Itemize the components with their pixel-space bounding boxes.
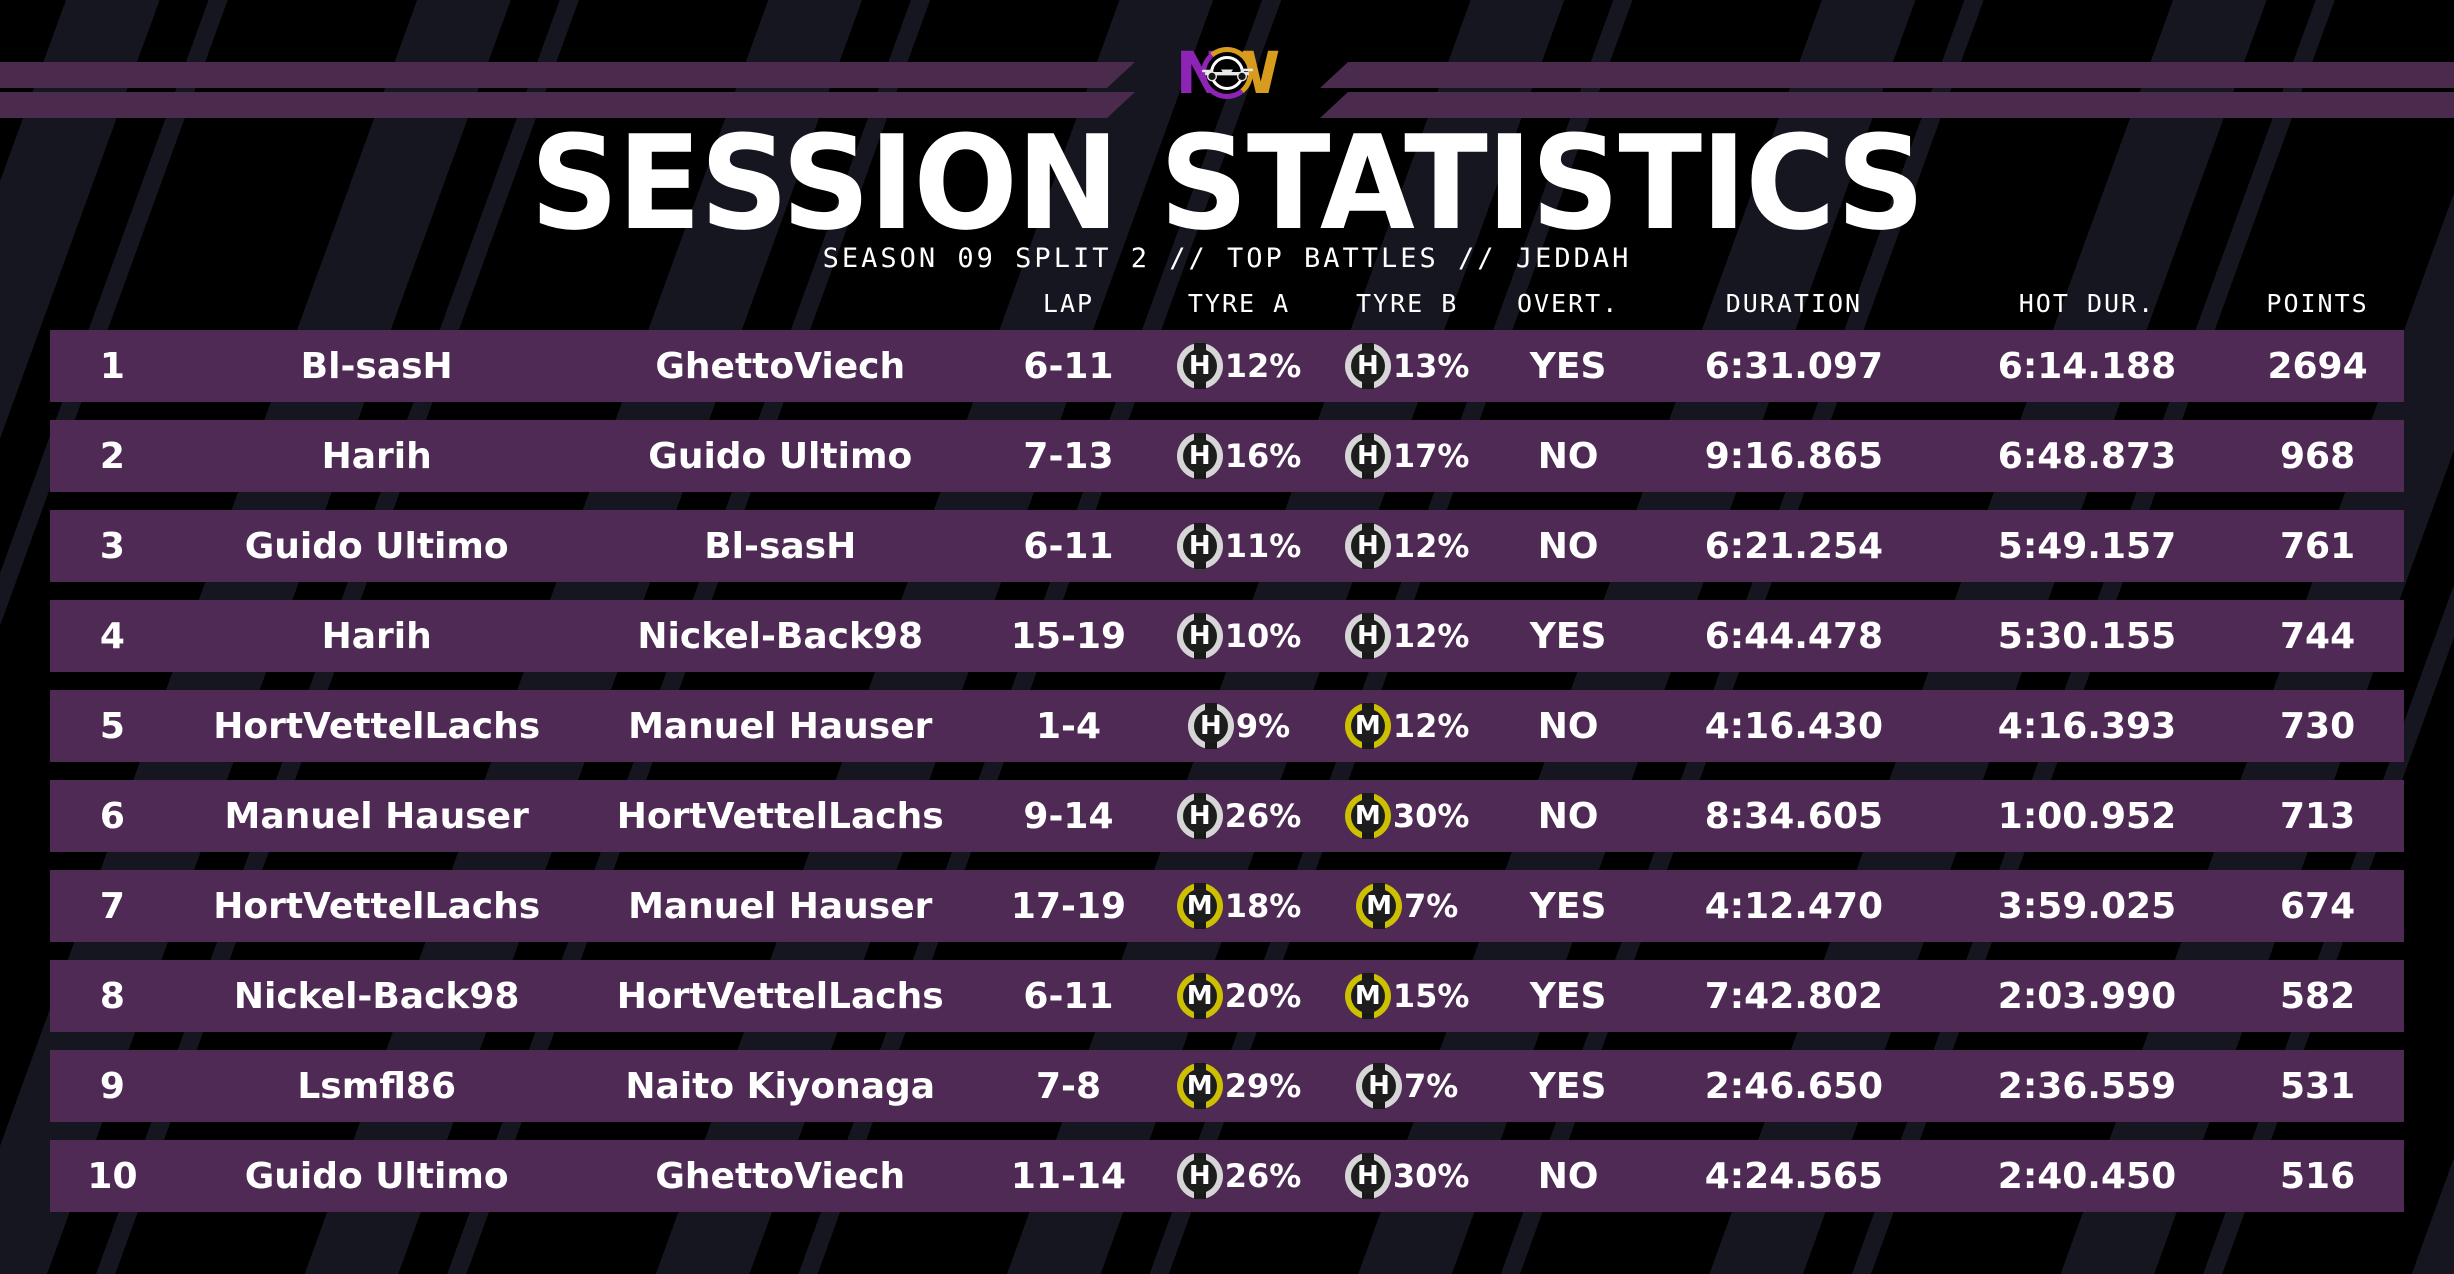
tyre-a-percent: 9%: [1236, 707, 1290, 745]
tyre-compound-letter: H: [1357, 1163, 1379, 1189]
cell-hot-duration: 1:00.952: [1943, 796, 2231, 837]
tyre-b-percent: 30%: [1393, 1157, 1470, 1195]
cell-position: 9: [50, 1066, 175, 1107]
tyre-compound-letter: M: [1355, 713, 1381, 739]
cell-points: 674: [2231, 886, 2404, 927]
tyre-hard-icon: H: [1188, 703, 1234, 749]
cell-driver-a: HortVettelLachs: [175, 886, 579, 927]
tyre-compound-letter: H: [1189, 353, 1211, 379]
cell-position: 10: [50, 1156, 175, 1197]
cell-driver-b: Naito Kiyonaga: [578, 1066, 982, 1107]
table-row[interactable]: 6 Manuel Hauser HortVettelLachs 9-14 H 2…: [50, 780, 2404, 852]
tyre-medium-icon: M: [1177, 1063, 1223, 1109]
cell-overtake: NO: [1491, 526, 1645, 567]
tyre-hard-icon: H: [1345, 343, 1391, 389]
tyre-a-percent: 16%: [1225, 437, 1302, 475]
table-row[interactable]: 3 Guido Ultimo Bl-sasH 6-11 H 11%: [50, 510, 2404, 582]
logo-ring-icon: [1201, 47, 1253, 99]
cell-tyre-a: H 12%: [1155, 343, 1323, 389]
tyre-b-group: H 13%: [1345, 343, 1470, 389]
cell-lap: 7-8: [982, 1066, 1155, 1107]
table-row[interactable]: 8 Nickel-Back98 HortVettelLachs 6-11 M 2…: [50, 960, 2404, 1032]
tyre-hard-icon: H: [1345, 613, 1391, 659]
cell-tyre-a: M 20%: [1155, 973, 1323, 1019]
tyre-b-group: H 30%: [1345, 1153, 1470, 1199]
tyre-b-percent: 12%: [1393, 527, 1470, 565]
cell-points: 531: [2231, 1066, 2404, 1107]
cell-position: 7: [50, 886, 175, 927]
cell-points: 968: [2231, 436, 2404, 477]
cell-driver-a: Harih: [175, 616, 579, 657]
tyre-a-group: H 10%: [1177, 613, 1302, 659]
cell-overtake: YES: [1491, 1066, 1645, 1107]
tyre-a-group: H 12%: [1177, 343, 1302, 389]
cell-duration: 9:16.865: [1645, 436, 1943, 477]
cell-points: 730: [2231, 706, 2404, 747]
tyre-hard-icon: H: [1345, 1153, 1391, 1199]
tyre-compound-letter: H: [1357, 533, 1379, 559]
tyre-b-group: M 12%: [1345, 703, 1470, 749]
cell-duration: 4:12.470: [1645, 886, 1943, 927]
cell-position: 4: [50, 616, 175, 657]
session-statistics-table: LAP TYRE A TYRE B OVERT. DURATION HOT DU…: [50, 282, 2404, 1230]
cell-hot-duration: 2:03.990: [1943, 976, 2231, 1017]
tyre-compound-letter: H: [1357, 443, 1379, 469]
cell-overtake: YES: [1491, 346, 1645, 387]
tyre-b-percent: 7%: [1404, 1067, 1458, 1105]
cell-overtake: YES: [1491, 886, 1645, 927]
tyre-b-group: M 15%: [1345, 973, 1470, 1019]
cell-hot-duration: 4:16.393: [1943, 706, 2231, 747]
tyre-compound-letter: H: [1189, 443, 1211, 469]
cell-tyre-a: H 26%: [1155, 1153, 1323, 1199]
now-logo: N W: [1152, 42, 1302, 104]
header-lap: LAP: [982, 289, 1155, 318]
cell-tyre-b: M 12%: [1323, 703, 1491, 749]
cell-driver-b: HortVettelLachs: [578, 976, 982, 1017]
tyre-compound-letter: M: [1187, 1073, 1213, 1099]
tyre-medium-icon: M: [1345, 793, 1391, 839]
table-row[interactable]: 10 Guido Ultimo GhettoViech 11-14 H 26%: [50, 1140, 2404, 1212]
f1-car-icon: [1199, 64, 1255, 82]
cell-driver-a: Bl-sasH: [175, 346, 579, 387]
cell-lap: 6-11: [982, 976, 1155, 1017]
cell-position: 1: [50, 346, 175, 387]
cell-overtake: YES: [1491, 616, 1645, 657]
cell-hot-duration: 6:14.188: [1943, 346, 2231, 387]
tyre-a-group: M 29%: [1177, 1063, 1302, 1109]
tyre-b-percent: 17%: [1393, 437, 1470, 475]
cell-tyre-a: H 16%: [1155, 433, 1323, 479]
cell-driver-a: Lsmfl86: [175, 1066, 579, 1107]
tyre-a-group: H 9%: [1188, 703, 1290, 749]
tyre-compound-letter: M: [1366, 893, 1392, 919]
tyre-compound-letter: H: [1368, 1073, 1390, 1099]
tyre-hard-icon: H: [1177, 1153, 1223, 1199]
table-row[interactable]: 5 HortVettelLachs Manuel Hauser 1-4 H 9%: [50, 690, 2404, 762]
cell-points: 516: [2231, 1156, 2404, 1197]
header-tyre-a: TYRE A: [1155, 289, 1323, 318]
cell-lap: 7-13: [982, 436, 1155, 477]
cell-tyre-a: H 9%: [1155, 703, 1323, 749]
tyre-a-group: H 16%: [1177, 433, 1302, 479]
cell-hot-duration: 2:36.559: [1943, 1066, 2231, 1107]
tyre-compound-letter: M: [1187, 893, 1213, 919]
cell-position: 8: [50, 976, 175, 1017]
cell-driver-b: Manuel Hauser: [578, 886, 982, 927]
tyre-hard-icon: H: [1345, 523, 1391, 569]
tyre-b-group: M 7%: [1356, 883, 1458, 929]
cell-driver-a: HortVettelLachs: [175, 706, 579, 747]
tyre-compound-letter: M: [1187, 983, 1213, 1009]
tyre-compound-letter: H: [1189, 1163, 1211, 1189]
tyre-hard-icon: H: [1345, 433, 1391, 479]
tyre-compound-letter: M: [1355, 803, 1381, 829]
cell-lap: 6-11: [982, 526, 1155, 567]
tyre-a-percent: 26%: [1225, 1157, 1302, 1195]
cell-points: 713: [2231, 796, 2404, 837]
tyre-b-group: H 12%: [1345, 613, 1470, 659]
cell-tyre-b: H 17%: [1323, 433, 1491, 479]
cell-tyre-a: H 11%: [1155, 523, 1323, 569]
cell-points: 2694: [2231, 346, 2404, 387]
tyre-medium-icon: M: [1177, 883, 1223, 929]
cell-driver-a: Guido Ultimo: [175, 1156, 579, 1197]
header-hot-dur: HOT DUR.: [1943, 289, 2231, 318]
cell-lap: 11-14: [982, 1156, 1155, 1197]
tyre-compound-letter: H: [1189, 803, 1211, 829]
header-duration: DURATION: [1645, 289, 1943, 318]
cell-lap: 17-19: [982, 886, 1155, 927]
table-row[interactable]: 9 Lsmfl86 Naito Kiyonaga 7-8 M 29%: [50, 1050, 2404, 1122]
cell-duration: 8:34.605: [1645, 796, 1943, 837]
table-header-row: LAP TYRE A TYRE B OVERT. DURATION HOT DU…: [50, 282, 2404, 324]
tyre-a-group: H 26%: [1177, 1153, 1302, 1199]
page-subtitle: SEASON 09 SPLIT 2 // TOP BATTLES // JEDD…: [0, 243, 2454, 274]
cell-points: 761: [2231, 526, 2404, 567]
tyre-a-group: M 20%: [1177, 973, 1302, 1019]
tyre-hard-icon: H: [1356, 1063, 1402, 1109]
tyre-medium-icon: M: [1356, 883, 1402, 929]
header-tyre-b: TYRE B: [1323, 289, 1491, 318]
tyre-b-group: H 12%: [1345, 523, 1470, 569]
cell-tyre-b: H 13%: [1323, 343, 1491, 389]
cell-duration: 6:44.478: [1645, 616, 1943, 657]
cell-tyre-b: H 7%: [1323, 1063, 1491, 1109]
tyre-medium-icon: M: [1345, 703, 1391, 749]
cell-driver-b: GhettoViech: [578, 1156, 982, 1197]
tyre-hard-icon: H: [1177, 343, 1223, 389]
cell-overtake: NO: [1491, 796, 1645, 837]
tyre-b-percent: 12%: [1393, 707, 1470, 745]
tyre-compound-letter: H: [1189, 533, 1211, 559]
banner-bar-top-left: [0, 62, 1135, 88]
cell-hot-duration: 2:40.450: [1943, 1156, 2231, 1197]
cell-position: 5: [50, 706, 175, 747]
tyre-hard-icon: H: [1177, 613, 1223, 659]
tyre-hard-icon: H: [1177, 523, 1223, 569]
table-row[interactable]: 1 Bl-sasH GhettoViech 6-11 H 12%: [50, 330, 2404, 402]
cell-tyre-a: H 10%: [1155, 613, 1323, 659]
table-body: 1 Bl-sasH GhettoViech 6-11 H 12%: [50, 330, 2404, 1212]
header-overtake: OVERT.: [1491, 289, 1645, 318]
tyre-medium-icon: M: [1177, 973, 1223, 1019]
cell-driver-b: Bl-sasH: [578, 526, 982, 567]
tyre-b-percent: 7%: [1404, 887, 1458, 925]
cell-tyre-b: M 7%: [1323, 883, 1491, 929]
cell-hot-duration: 5:30.155: [1943, 616, 2231, 657]
tyre-b-percent: 13%: [1393, 347, 1470, 385]
cell-tyre-a: H 26%: [1155, 793, 1323, 839]
tyre-hard-icon: H: [1177, 793, 1223, 839]
tyre-a-percent: 10%: [1225, 617, 1302, 655]
cell-driver-a: Guido Ultimo: [175, 526, 579, 567]
cell-driver-b: Nickel-Back98: [578, 616, 982, 657]
page-title: SESSION STATISTICS: [0, 118, 2454, 248]
tyre-a-percent: 11%: [1225, 527, 1302, 565]
cell-duration: 4:24.565: [1645, 1156, 1943, 1197]
cell-duration: 2:46.650: [1645, 1066, 1943, 1107]
cell-points: 744: [2231, 616, 2404, 657]
cell-overtake: NO: [1491, 1156, 1645, 1197]
tyre-a-group: M 18%: [1177, 883, 1302, 929]
tyre-medium-icon: M: [1345, 973, 1391, 1019]
tyre-b-percent: 15%: [1393, 977, 1470, 1015]
tyre-a-group: H 11%: [1177, 523, 1302, 569]
cell-lap: 9-14: [982, 796, 1155, 837]
cell-tyre-b: H 12%: [1323, 523, 1491, 569]
cell-tyre-b: H 30%: [1323, 1153, 1491, 1199]
cell-duration: 6:31.097: [1645, 346, 1943, 387]
cell-tyre-b: M 15%: [1323, 973, 1491, 1019]
cell-lap: 1-4: [982, 706, 1155, 747]
cell-duration: 7:42.802: [1645, 976, 1943, 1017]
tyre-a-percent: 20%: [1225, 977, 1302, 1015]
cell-overtake: YES: [1491, 976, 1645, 1017]
table-row[interactable]: 4 Harih Nickel-Back98 15-19 H 10%: [50, 600, 2404, 672]
cell-duration: 6:21.254: [1645, 526, 1943, 567]
banner-bar-top-right: [1320, 62, 2454, 88]
tyre-compound-letter: H: [1200, 713, 1222, 739]
cell-driver-a: Manuel Hauser: [175, 796, 579, 837]
cell-driver-b: Guido Ultimo: [578, 436, 982, 477]
cell-points: 582: [2231, 976, 2404, 1017]
cell-tyre-a: M 29%: [1155, 1063, 1323, 1109]
cell-hot-duration: 5:49.157: [1943, 526, 2231, 567]
tyre-compound-letter: H: [1357, 353, 1379, 379]
cell-hot-duration: 3:59.025: [1943, 886, 2231, 927]
tyre-compound-letter: H: [1357, 623, 1379, 649]
cell-hot-duration: 6:48.873: [1943, 436, 2231, 477]
cell-tyre-b: M 30%: [1323, 793, 1491, 839]
cell-position: 3: [50, 526, 175, 567]
cell-overtake: NO: [1491, 436, 1645, 477]
tyre-b-percent: 12%: [1393, 617, 1470, 655]
table-row[interactable]: 2 Harih Guido Ultimo 7-13 H 16%: [50, 420, 2404, 492]
cell-driver-b: Manuel Hauser: [578, 706, 982, 747]
tyre-b-percent: 30%: [1393, 797, 1470, 835]
tyre-b-group: H 17%: [1345, 433, 1470, 479]
cell-duration: 4:16.430: [1645, 706, 1943, 747]
cell-position: 6: [50, 796, 175, 837]
tyre-a-percent: 29%: [1225, 1067, 1302, 1105]
cell-position: 2: [50, 436, 175, 477]
cell-driver-a: Nickel-Back98: [175, 976, 579, 1017]
tyre-compound-letter: H: [1189, 623, 1211, 649]
cell-driver-a: Harih: [175, 436, 579, 477]
cell-tyre-a: M 18%: [1155, 883, 1323, 929]
cell-driver-b: HortVettelLachs: [578, 796, 982, 837]
cell-lap: 6-11: [982, 346, 1155, 387]
cell-driver-b: GhettoViech: [578, 346, 982, 387]
tyre-a-group: H 26%: [1177, 793, 1302, 839]
cell-lap: 15-19: [982, 616, 1155, 657]
tyre-a-percent: 26%: [1225, 797, 1302, 835]
tyre-b-group: H 7%: [1356, 1063, 1458, 1109]
header-points: POINTS: [2231, 289, 2404, 318]
tyre-hard-icon: H: [1177, 433, 1223, 479]
table-row[interactable]: 7 HortVettelLachs Manuel Hauser 17-19 M …: [50, 870, 2404, 942]
cell-overtake: NO: [1491, 706, 1645, 747]
tyre-a-percent: 12%: [1225, 347, 1302, 385]
cell-tyre-b: H 12%: [1323, 613, 1491, 659]
tyre-b-group: M 30%: [1345, 793, 1470, 839]
tyre-a-percent: 18%: [1225, 887, 1302, 925]
tyre-compound-letter: M: [1355, 983, 1381, 1009]
